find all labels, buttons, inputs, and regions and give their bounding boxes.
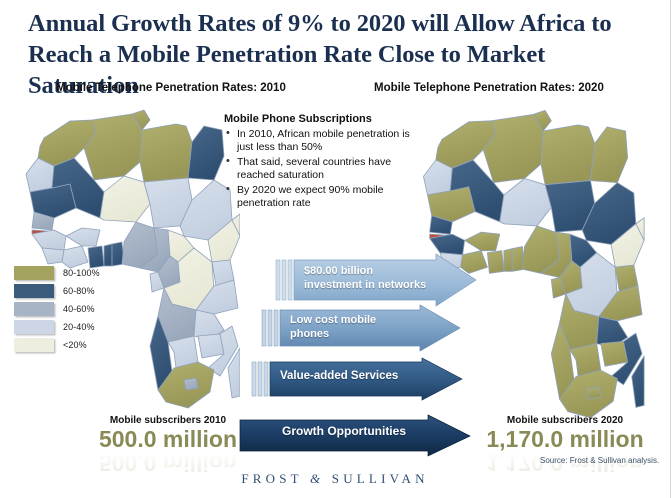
legend-swatch-60-80 — [14, 284, 54, 298]
arrow-label-investment: $80.00 billion investment in networks — [304, 265, 426, 292]
penetration-legend: 80-100% 60-80% 40-60% 20-40% <20% — [14, 265, 100, 355]
arrow-growth-opportunities: Growth Opportunities — [240, 415, 472, 459]
frost-sullivan-logo: FROST & SULLIVAN — [0, 471, 670, 487]
subscribers-2020-value: 1,170.0 million — [470, 427, 660, 452]
legend-item: 60-80% — [14, 283, 100, 300]
map-header-2010: Mobile Telephone Penetration Rates: 2010 — [56, 82, 286, 94]
arrow-investment: $80.00 billion investment in networks — [276, 254, 476, 308]
arrow-label-low-cost-phones: Low cost mobile phones — [290, 314, 376, 341]
callout-bullet-list: In 2010, African mobile penetration is j… — [224, 128, 420, 211]
map-header-2020: Mobile Telephone Penetration Rates: 2020 — [374, 82, 604, 94]
legend-item: 20-40% — [14, 319, 100, 336]
subscribers-2010: Mobile subscribers 2010 500.0 million 50… — [78, 415, 258, 475]
slide-root: Annual Growth Rates of 9% to 2020 will A… — [0, 0, 670, 498]
legend-label: 60-80% — [63, 286, 95, 296]
legend-swatch-under-20 — [14, 338, 54, 352]
legend-swatch-80-100 — [14, 266, 54, 280]
subscribers-2020-label: Mobile subscribers 2020 — [470, 415, 660, 426]
mobile-subscriptions-callout: Mobile Phone Subscriptions In 2010, Afri… — [224, 113, 420, 212]
list-item: By 2020 we expect 90% mobile penetration… — [224, 184, 420, 211]
legend-item: <20% — [14, 337, 100, 354]
source-note: Source: Frost & Sullivan analysis. — [540, 456, 659, 465]
legend-swatch-20-40 — [14, 320, 54, 334]
legend-swatch-40-60 — [14, 302, 54, 316]
arrow-low-cost-phones: Low cost mobile phones — [262, 305, 462, 355]
subscribers-2020: Mobile subscribers 2020 1,170.0 million … — [470, 415, 660, 475]
africa-map-2010 — [8, 96, 240, 416]
legend-label: 40-60% — [63, 304, 95, 314]
callout-heading: Mobile Phone Subscriptions — [224, 113, 420, 127]
subscribers-2010-label: Mobile subscribers 2010 — [78, 415, 258, 426]
arrow-value-added-services: Value-added Services — [252, 358, 464, 404]
legend-item: 40-60% — [14, 301, 100, 318]
legend-label: 80-100% — [63, 268, 100, 278]
legend-label: <20% — [63, 340, 87, 350]
legend-item: 80-100% — [14, 265, 100, 282]
logo-word-sullivan: SULLIVAN — [332, 471, 429, 486]
subscribers-2010-value: 500.0 million — [78, 427, 258, 452]
arrow-label-value-added-services: Value-added Services — [280, 370, 398, 384]
logo-word-frost: FROST — [241, 471, 302, 486]
logo-ampersand: & — [310, 471, 324, 486]
list-item: In 2010, African mobile penetration is j… — [224, 128, 420, 155]
list-item: That said, several countries have reache… — [224, 156, 420, 183]
legend-label: 20-40% — [63, 322, 95, 332]
arrow-label-growth-opportunities: Growth Opportunities — [282, 425, 406, 439]
